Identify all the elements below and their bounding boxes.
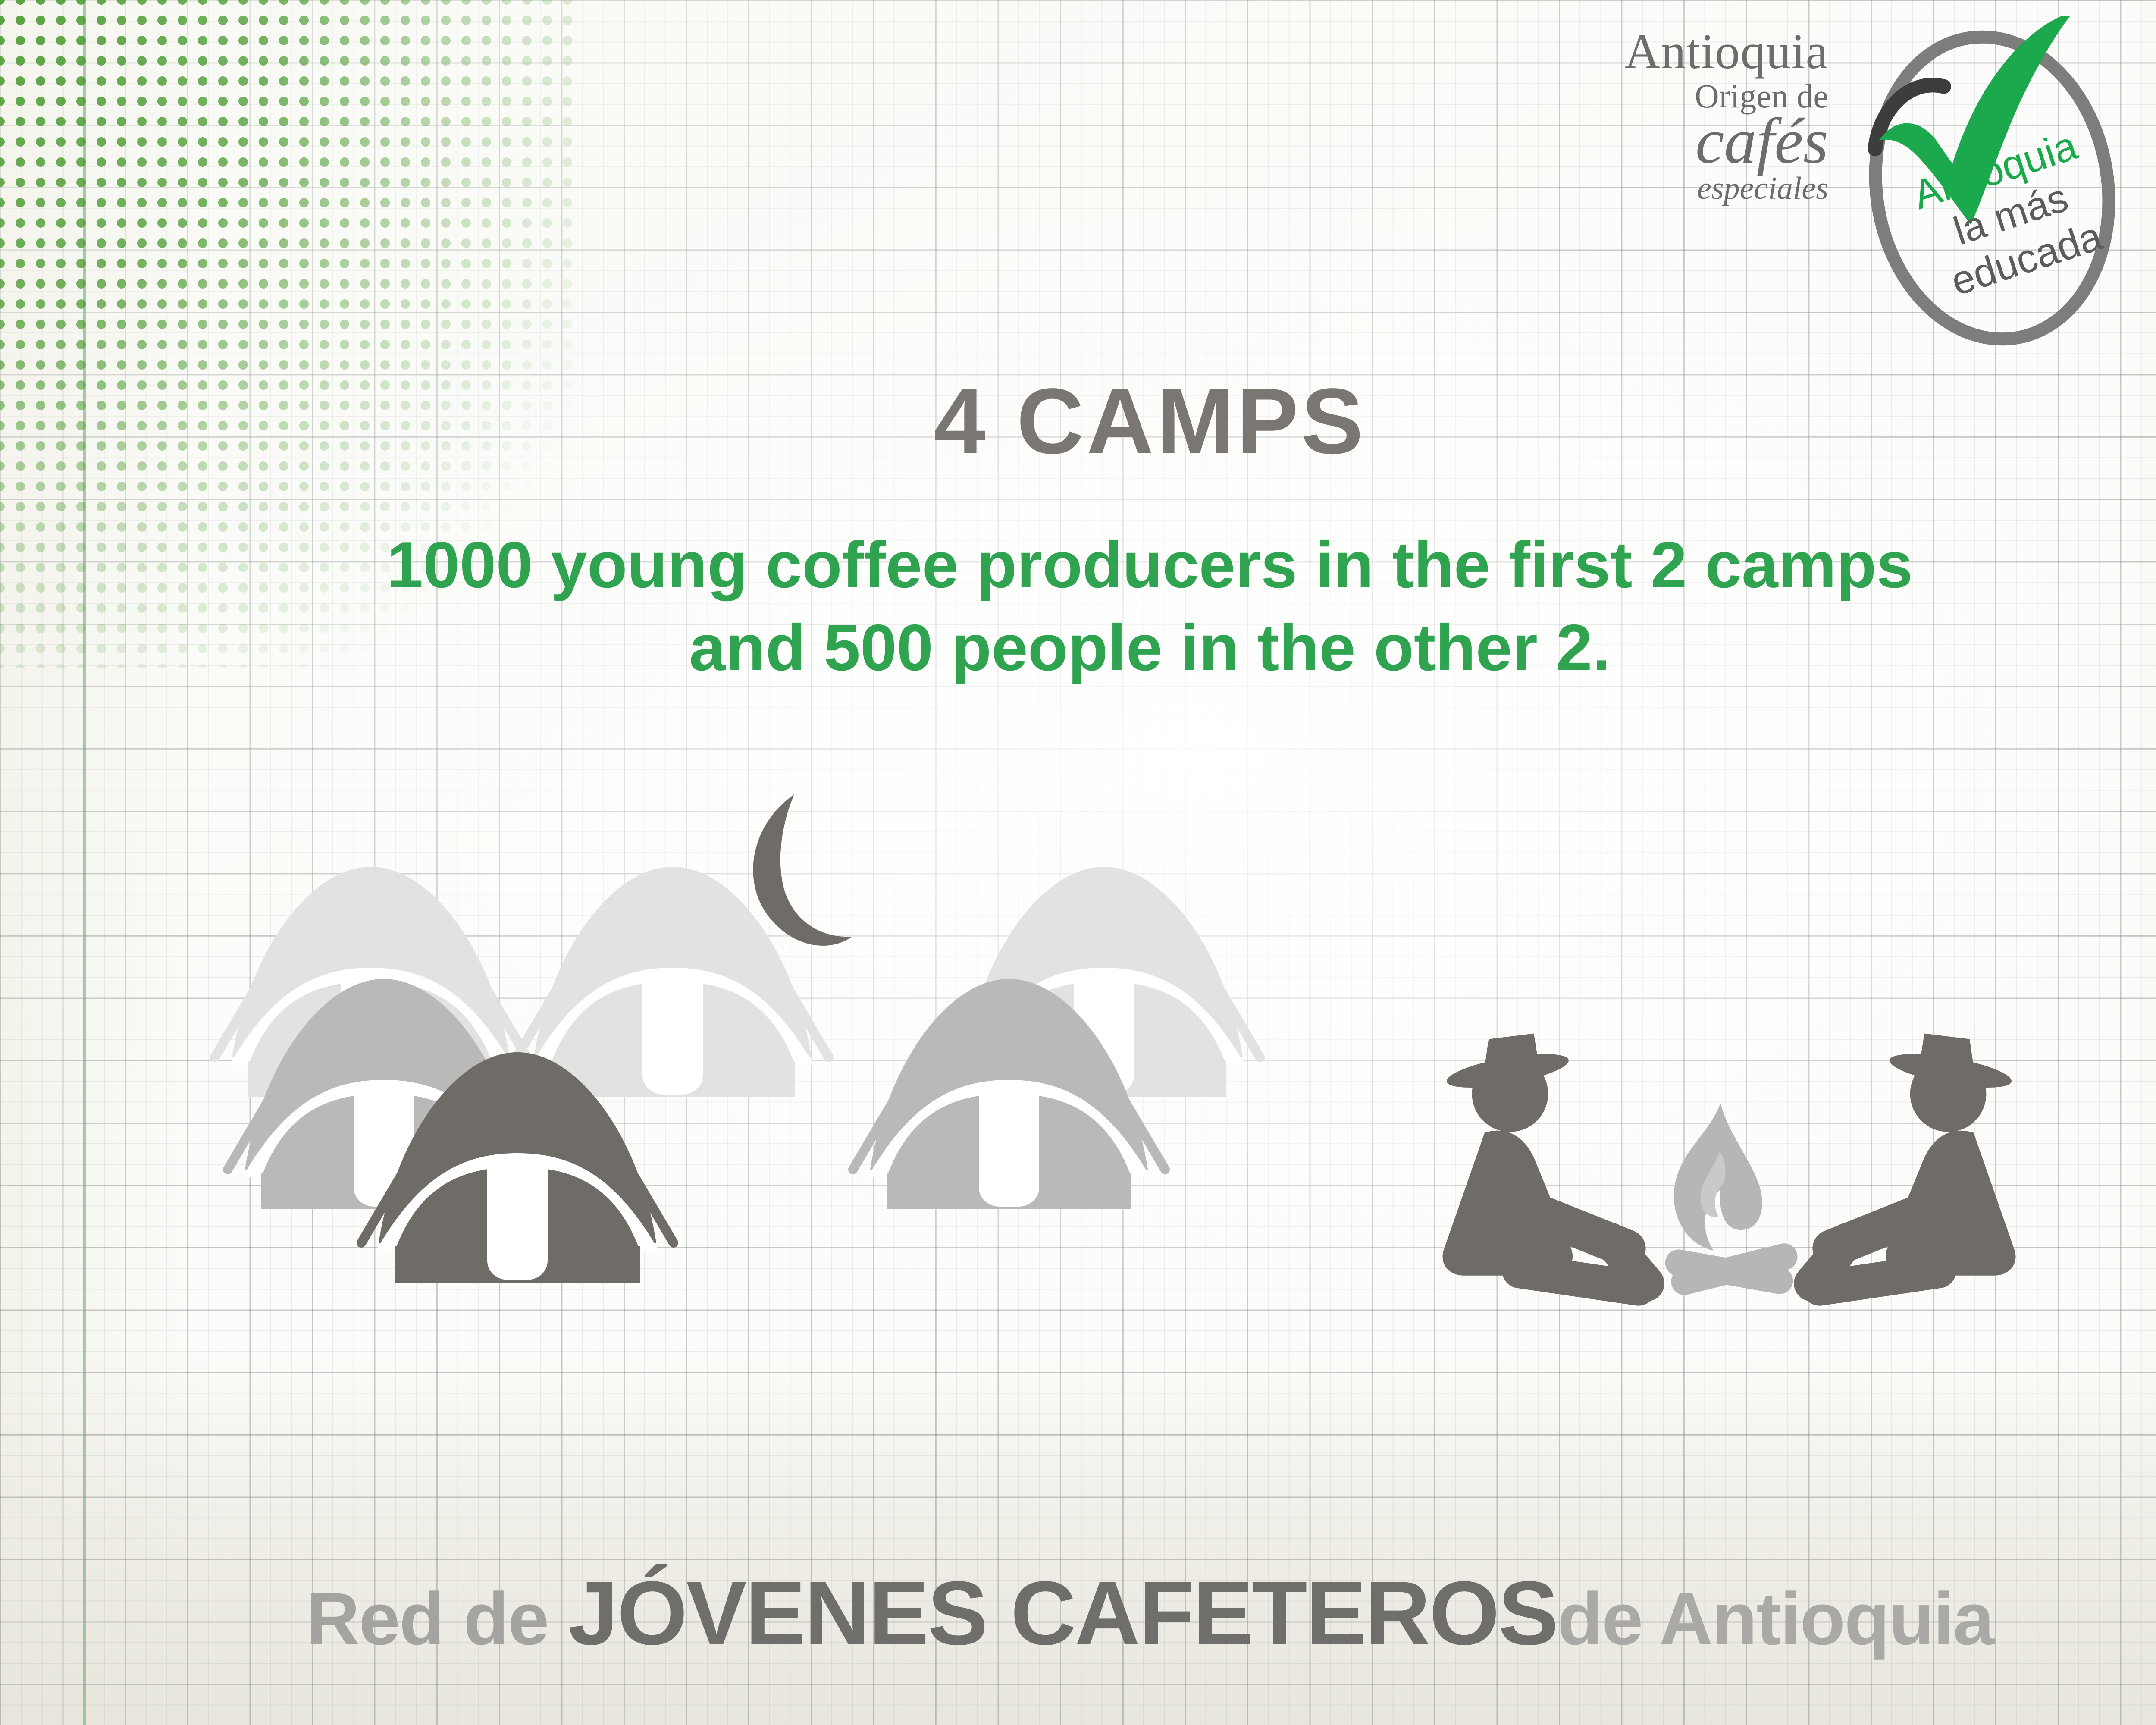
antioquia-la-mas-educada-badge: Antioquia la más educada <box>1841 16 2143 356</box>
footer-jovenes-cafeteros: JÓVENES CAFETEROS <box>568 1562 1557 1664</box>
seated-person-right <box>1812 1034 2016 1289</box>
footer-brand: Red de JÓVENES CAFETEROSde Antioquia <box>0 1561 2156 1665</box>
tents-illustration <box>181 785 1285 1371</box>
campfire-illustration <box>1423 970 2035 1345</box>
seated-person-left <box>1443 1034 1647 1289</box>
logo-line-cafes: cafés <box>1479 110 1828 172</box>
logo-line-antioquia: Antioquia <box>1479 27 1828 77</box>
footer-de-antioquia: de Antioquia <box>1557 1578 1993 1660</box>
campfire-icon <box>1663 1103 1800 1298</box>
footer-red-de: Red de <box>306 1578 568 1660</box>
page-title: 4 CAMPS <box>0 367 2156 475</box>
logo-wordmark: Antioquia Origen de cafés especiales <box>1479 27 1828 204</box>
crescent-moon-icon <box>753 794 852 946</box>
slide-canvas: Antioquia Origen de cafés especiales Ant… <box>0 0 2156 1725</box>
subtitle-line-1: 1000 young coffee producers in the first… <box>147 524 2153 607</box>
antioquia-logo: Antioquia Origen de cafés especiales Ant… <box>1479 13 2152 362</box>
logo-line-especiales: especiales <box>1479 172 1828 204</box>
subtitle-line-2: and 500 people in the other 2. <box>147 607 2153 690</box>
page-subtitle: 1000 young coffee producers in the first… <box>147 524 2153 689</box>
margin-line-left <box>83 0 86 1725</box>
